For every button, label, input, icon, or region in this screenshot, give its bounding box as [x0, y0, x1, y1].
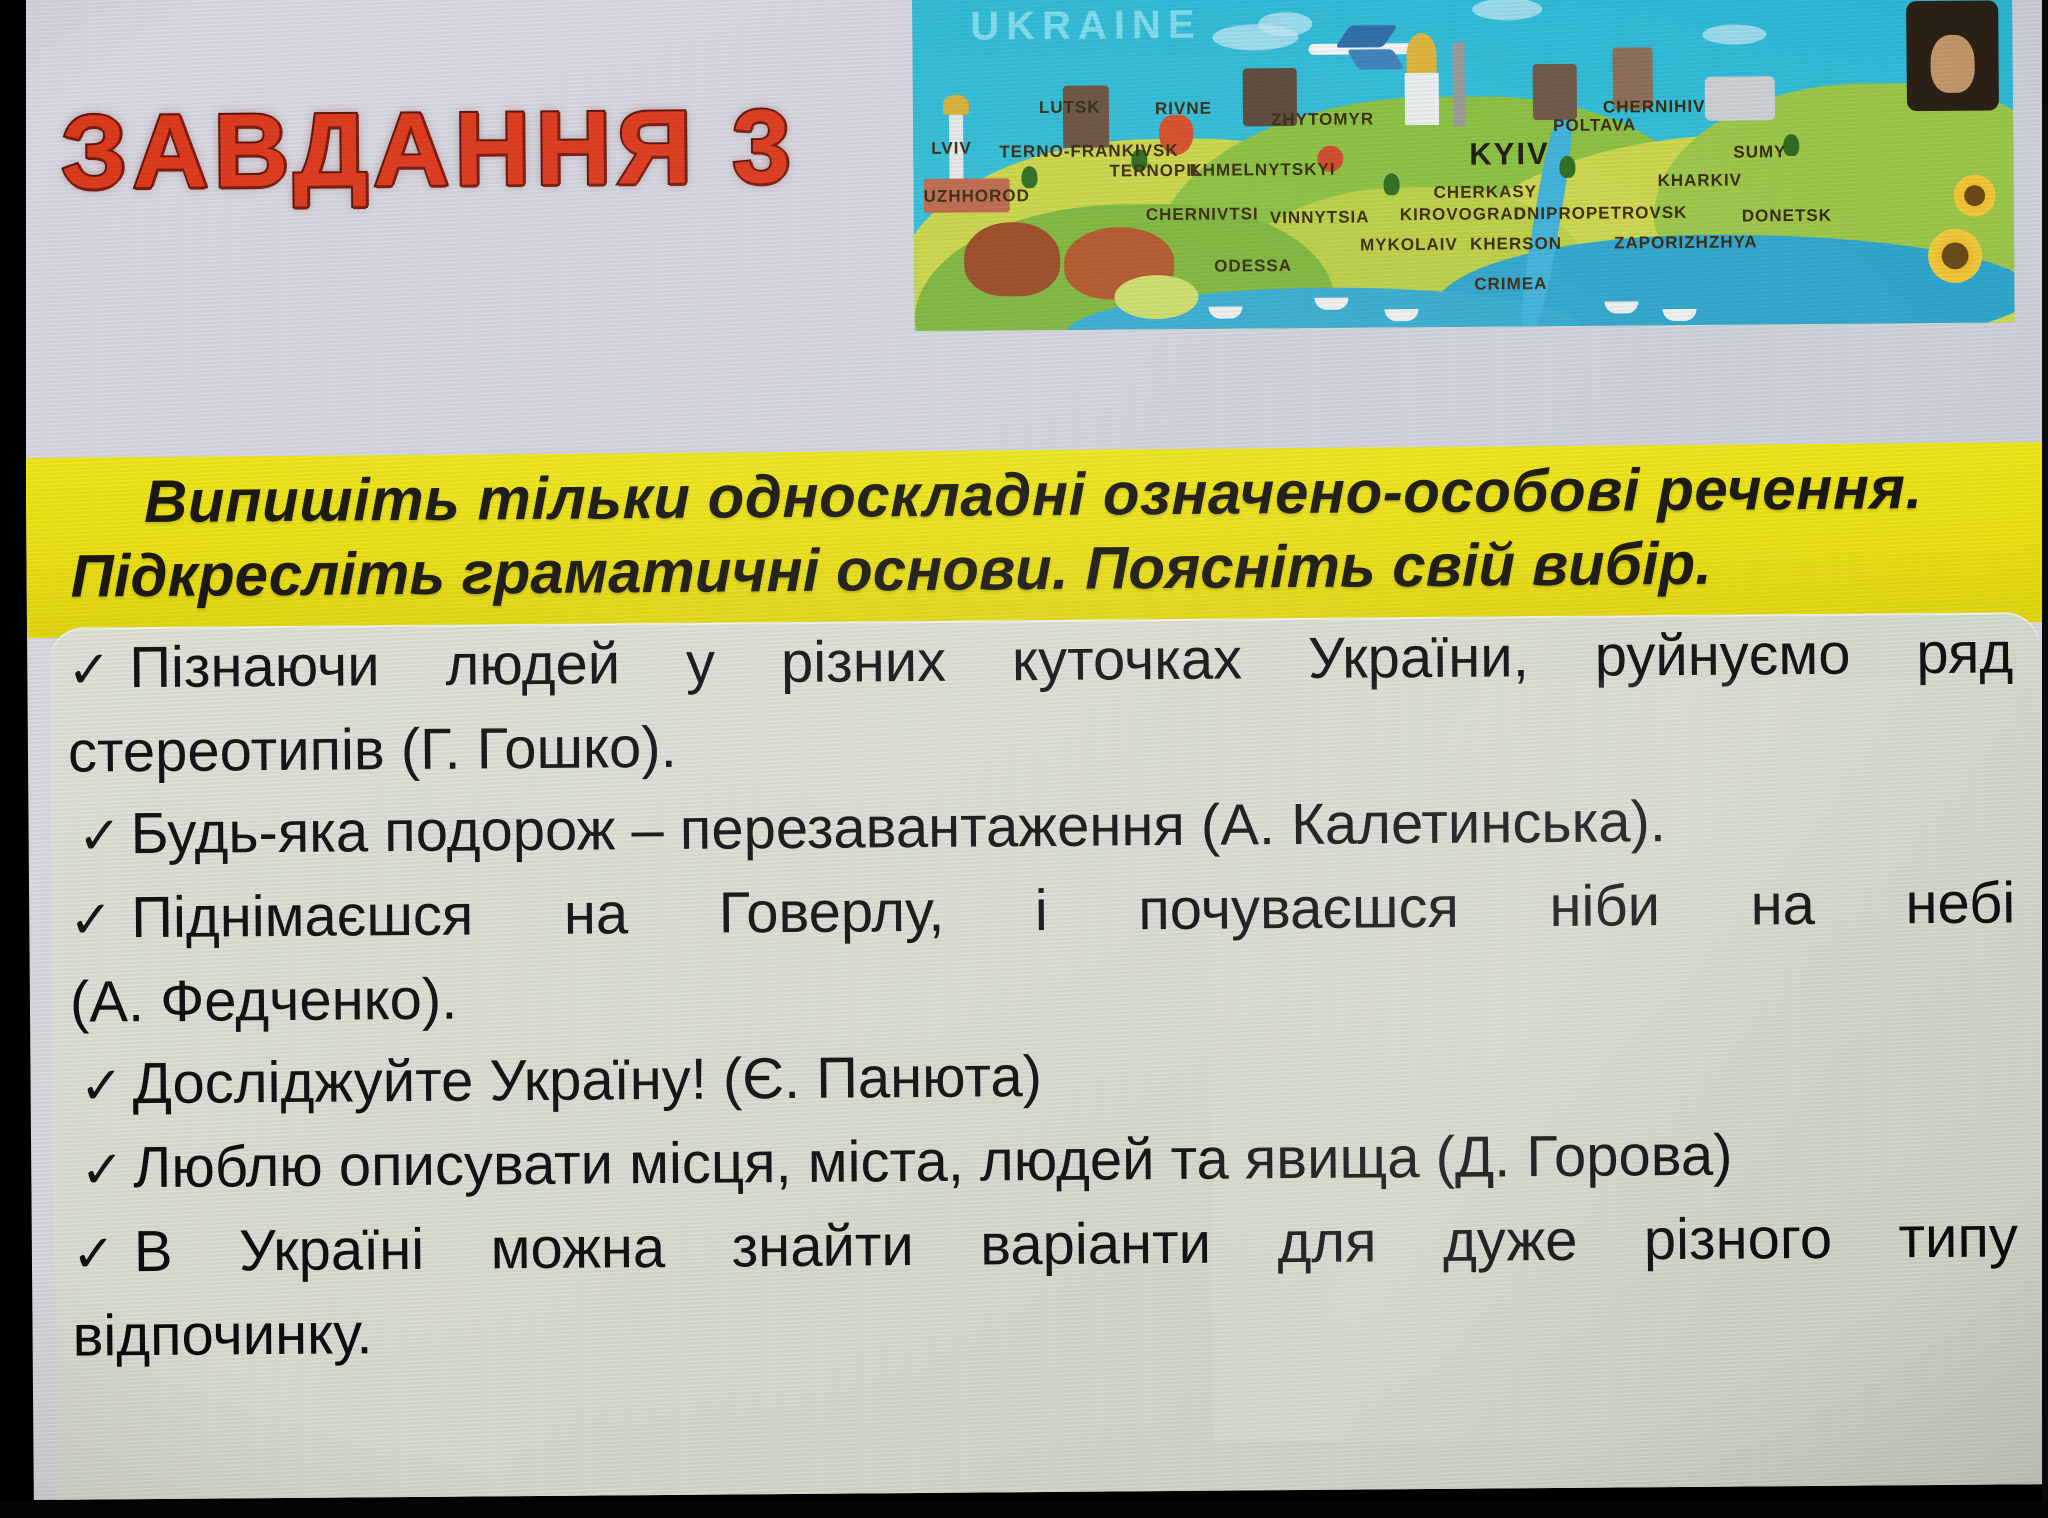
sunflower-icon: [1928, 229, 1982, 283]
map-city-label: ZHYTOMYR: [1271, 109, 1374, 130]
map-city-label: DNIPROPETROVSK: [1514, 203, 1688, 224]
list-item-wrapped-line: стереотипів (Г. Гошко).: [68, 696, 2015, 793]
screen-bezel-bottom: [0, 1502, 2048, 1518]
sunflower-icon: [1953, 175, 1995, 217]
list-item-text: Люблю описувати місця, міста, людей та я…: [133, 1123, 1733, 1201]
map-city-label: KHARKIV: [1657, 170, 1742, 191]
map-city-label: TERNO-FRANKIVSK: [999, 141, 1178, 162]
map-city-label: DONETSK: [1742, 206, 1832, 227]
list-item-text: В Україні можна знайти варіанти для дуже…: [134, 1204, 2018, 1284]
list-item-first-line: ✓Будь-яка подорож – перезавантаження (А.…: [68, 778, 2015, 877]
map-city-label: CHERNIVTSI: [1146, 204, 1259, 225]
monument-icon: [1452, 43, 1465, 127]
map-city-label: CHERNIHIV: [1603, 97, 1706, 118]
building-icon: [1533, 64, 1577, 120]
instruction-band: Випишіть тільки односкладні означено-осо…: [26, 442, 2048, 638]
tree-icon: [1021, 166, 1037, 188]
golden-dome-icon: [1406, 33, 1436, 77]
map-city-label: RIVNE: [1155, 99, 1212, 119]
list-item-text: Піднімаєшся на Говерлу, і почуваєшся ніб…: [131, 870, 2015, 950]
map-city-label: ODESSA: [1214, 256, 1292, 277]
dome-icon: [943, 95, 969, 115]
list-item-first-line: ✓Досліджуйте Україну! (Є. Панюта): [70, 1028, 2017, 1127]
photo-of-projected-slide: ЗАВДАННЯ 3 UKRAINE: [0, 0, 2048, 1518]
pottery-icon: [964, 222, 1061, 297]
map-city-label: SUMY: [1733, 142, 1786, 162]
list-item-first-line: ✓Піднімаєшся на Говерлу, і почуваєшся ні…: [69, 862, 2016, 961]
screen-bezel-right: [2042, 0, 2048, 1518]
checkmark-icon: ✓: [67, 629, 130, 711]
map-city-label: KIROVOGRAD: [1400, 204, 1527, 225]
list-item-first-line: ✓В Україні можна знайти варіанти для дуж…: [72, 1196, 2019, 1295]
checkmark-icon: ✓: [70, 1045, 133, 1127]
ukraine-map-illustration: UKRAINE: [912, 0, 2015, 331]
list-item: ✓Піднімаєшся на Говерлу, і почуваєшся ні…: [51, 862, 2042, 1044]
map-city-label: VINNYTSIA: [1270, 207, 1370, 228]
list-item-text: Пізнаючи людей у різних куточках України…: [129, 620, 2013, 700]
screen-bezel-left: [0, 0, 26, 1518]
map-city-label: KHERSON: [1470, 234, 1562, 255]
checkmark-icon: ✓: [68, 795, 131, 877]
map-city-label: ZAPORIZHZHYA: [1614, 232, 1758, 253]
checkmark-icon: ✓: [71, 1129, 134, 1211]
list-item: ✓Люблю описувати місця, міста, людей та …: [53, 1112, 2044, 1212]
list-item-first-line: ✓Люблю описувати місця, міста, людей та …: [71, 1112, 2018, 1211]
slide-header: ЗАВДАННЯ 3 UKRAINE: [22, 0, 2048, 464]
cathedral-icon: [1405, 73, 1439, 125]
slide-screen: ЗАВДАННЯ 3 UKRAINE: [22, 0, 2048, 1500]
stadium-icon: [1705, 76, 1775, 121]
list-item-first-line: ✓Пізнаючи людей у різних куточках Україн…: [67, 612, 2014, 711]
instruction-line-2: Підкресліть граматичні основи. Поясніть …: [70, 533, 1712, 607]
checkmark-icon: ✓: [72, 1213, 135, 1295]
tree-icon: [1559, 156, 1575, 178]
list-item: ✓Пізнаючи людей у різних куточках Україн…: [49, 612, 2040, 794]
map-city-label: KYIV: [1469, 136, 1550, 173]
list-item-text: Досліджуйте Україну! (Є. Панюта): [132, 1044, 1042, 1116]
list-item: ✓Будь-яка подорож – перезавантаження (А.…: [50, 778, 2041, 878]
poet-portrait-icon: [1906, 0, 1999, 111]
map-city-label: CHERKASY: [1434, 182, 1538, 203]
map-city-label: LUTSK: [1039, 98, 1101, 118]
map-city-label: CRIMEA: [1474, 274, 1547, 295]
map-city-label: LVIV: [931, 139, 972, 159]
page-title: ЗАВДАННЯ 3: [61, 88, 797, 213]
list-item-wrapped-line: (А. Федченко).: [70, 946, 2017, 1043]
sentences-card: ✓Пізнаючи людей у різних куточках Україн…: [49, 612, 2046, 1500]
map-city-label: MYKOLAIV: [1360, 235, 1458, 256]
map-city-label: KHMELNYTSKYI: [1189, 160, 1335, 181]
sentence-list: ✓Пізнаючи людей у різних куточках Україн…: [49, 612, 2045, 1378]
checkmark-icon: ✓: [69, 879, 132, 961]
list-item: ✓Досліджуйте Україну! (Є. Панюта): [52, 1028, 2043, 1128]
instruction-line-1: Випишіть тільки односкладні означено-осо…: [144, 457, 1923, 532]
list-item: ✓В Україні можна знайти варіанти для дуж…: [54, 1196, 2045, 1378]
list-item-text: Будь-яка подорож – перезавантаження (А. …: [130, 789, 1666, 866]
map-title-label: UKRAINE: [970, 3, 1202, 50]
map-city-label: POLTAVA: [1553, 115, 1636, 136]
list-item-wrapped-line: відпочинку.: [72, 1280, 2019, 1377]
map-city-label: UZHHOROD: [924, 186, 1030, 207]
tree-icon: [1383, 173, 1399, 195]
